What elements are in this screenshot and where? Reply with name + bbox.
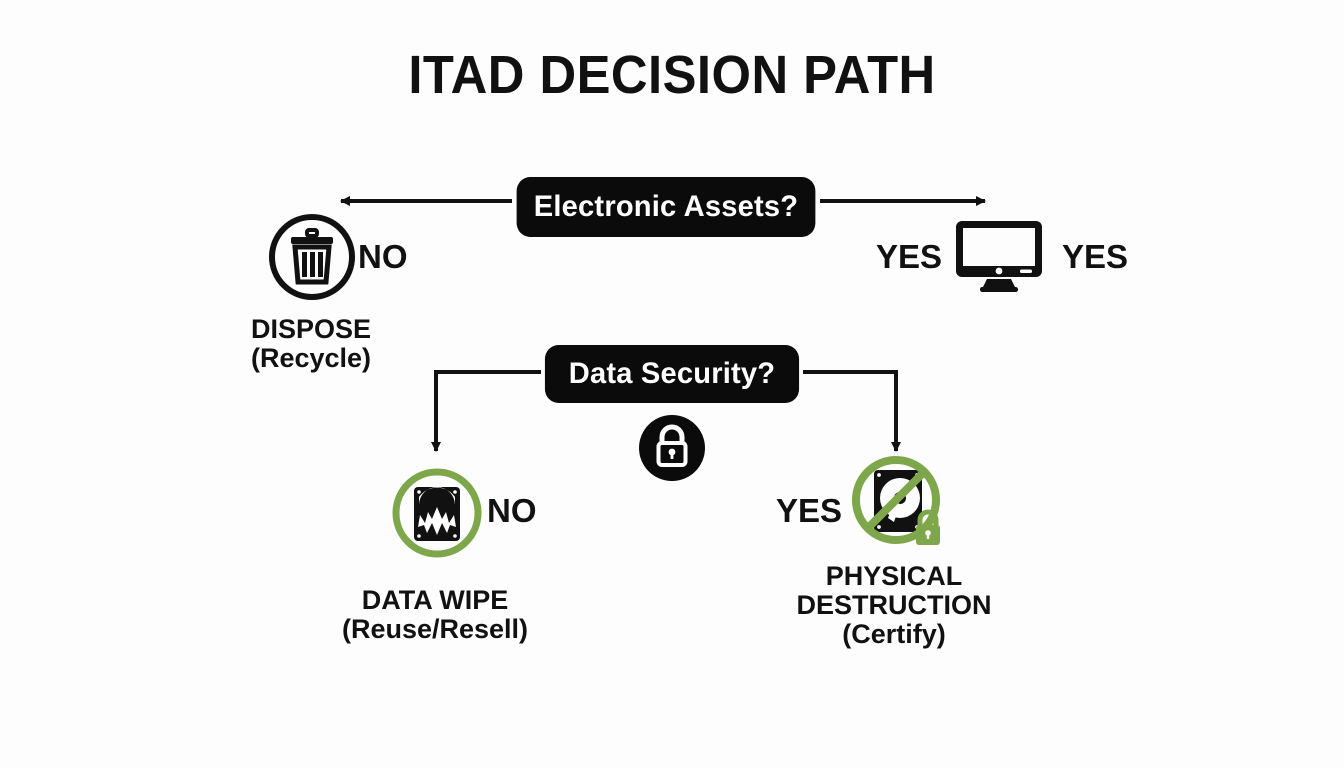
outcome-physical-destruction-sub: (Certify) <box>772 620 1016 649</box>
diagram-canvas: ITAD DECISION PATH Electronic Assets? Da… <box>0 0 1344 768</box>
edge-security-no <box>436 372 541 451</box>
outcome-caption-data-wipe: DATA WIPE (Reuse/Resell) <box>315 586 555 644</box>
hard-drive-wipe-icon <box>389 465 485 561</box>
hard-drive-prohibited-lock-icon <box>848 452 952 556</box>
desktop-monitor-icon <box>954 219 1044 293</box>
branch-label-yes-data-security: YES <box>776 492 842 530</box>
branch-label-no-assets: NO <box>358 238 408 276</box>
outcome-data-wipe-sub: (Reuse/Resell) <box>315 615 555 644</box>
decision-node-data-security[interactable]: Data Security? <box>545 345 799 403</box>
padlock-icon <box>639 415 705 481</box>
decision-label-electronic-assets: Electronic Assets? <box>534 190 798 224</box>
outcome-dispose-main: DISPOSE <box>191 315 431 344</box>
trash-can-icon <box>269 214 355 300</box>
outcome-physical-destruction-main-line2: DESTRUCTION <box>772 591 1016 620</box>
page-title: ITAD DECISION PATH <box>40 44 1303 106</box>
branch-label-yes-assets-right: YES <box>1062 238 1128 276</box>
branch-label-yes-assets-left: YES <box>876 238 942 276</box>
edge-security-yes <box>803 372 896 451</box>
outcome-physical-destruction-main-line1: PHYSICAL <box>772 562 1016 591</box>
decision-label-data-security: Data Security? <box>569 357 775 391</box>
outcome-caption-physical-destruction: PHYSICAL DESTRUCTION (Certify) <box>772 562 1016 649</box>
branch-label-no-data-security: NO <box>487 492 537 530</box>
outcome-data-wipe-main: DATA WIPE <box>315 586 555 615</box>
outcome-caption-dispose: DISPOSE (Recycle) <box>191 315 431 373</box>
decision-node-electronic-assets[interactable]: Electronic Assets? <box>517 177 816 237</box>
outcome-dispose-sub: (Recycle) <box>191 344 431 373</box>
